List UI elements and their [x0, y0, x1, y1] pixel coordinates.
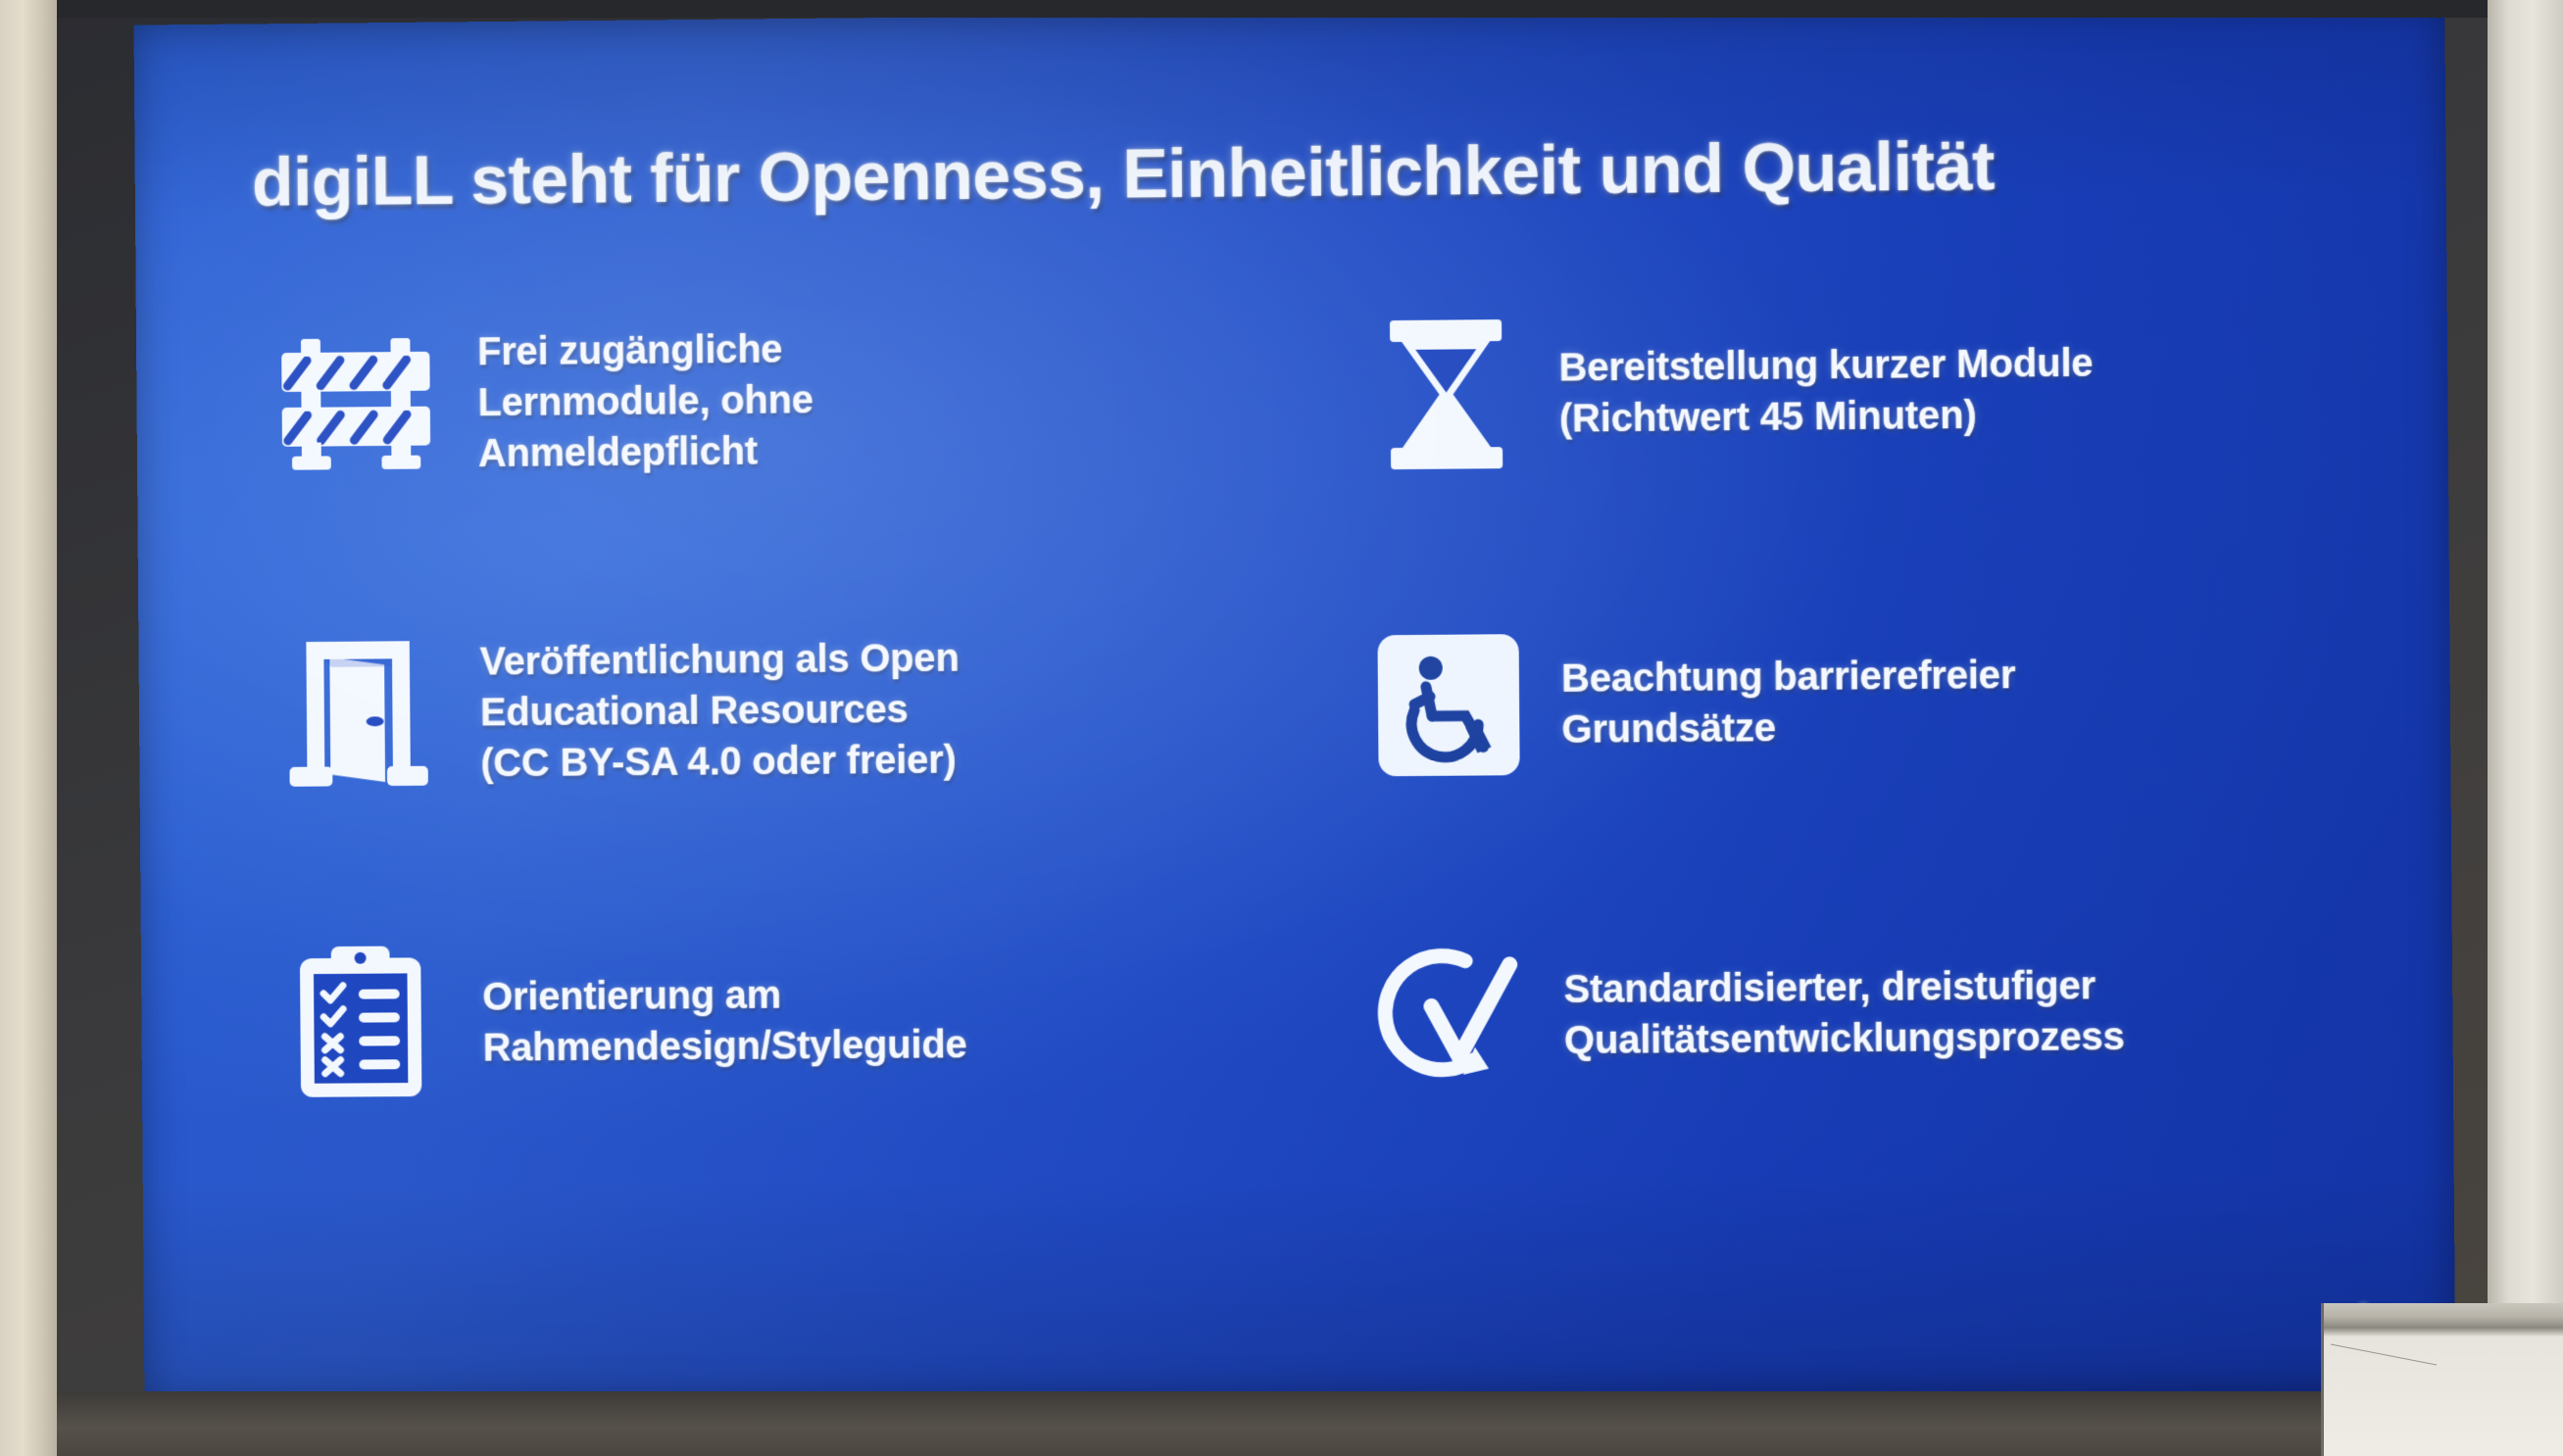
feature-line: Bereitstellung kurzer Module [1558, 338, 2093, 394]
feature-line: Beachtung barrierefreier [1561, 650, 2016, 704]
feature-item-accessibility: Beachtung barrierefreier Grundsätze [1335, 542, 2375, 860]
bezel-bottom-shadow [57, 1391, 2488, 1456]
clipboard-checklist-icon [238, 942, 483, 1104]
wall-edge-right [2488, 0, 2563, 1456]
feature-line: Frei zugängliche [477, 324, 813, 378]
feature-line: (Richtwert 45 Minuten) [1559, 389, 2094, 445]
feature-item-styleguide: Orientierung am Rahmendesign/Styleguide [238, 862, 1271, 1179]
wheelchair-accessibility-icon [1335, 631, 1561, 780]
feature-line: Anmeldepflicht [478, 426, 814, 480]
slide-title: digiLL steht für Openness, Einheitlichke… [252, 123, 2310, 221]
bezel-top-shadow [57, 0, 2488, 18]
feature-text: Beachtung barrierefreier Grundsätze [1561, 650, 2016, 755]
feature-text: Bereitstellung kurzer Module (Richtwert … [1558, 338, 2094, 445]
feature-item-open-access: Frei zugängliche Lernmodule, ohne Anmeld… [233, 241, 1266, 559]
feature-line: Grundsätze [1561, 701, 2016, 755]
projected-slide-photo: digiLL steht für Openness, Einheitlichke… [0, 0, 2563, 1456]
feature-line: Orientierung am [482, 968, 966, 1022]
open-door-icon [236, 635, 481, 794]
slide-feature-grid: Frei zugängliche Lernmodule, ohne Anmeld… [233, 231, 2377, 1179]
barrier-icon [233, 330, 478, 479]
feature-item-module-length: Bereitstellung kurzer Module (Richtwert … [1332, 231, 2372, 551]
feature-line: Educational Resources [480, 684, 960, 739]
feature-text: Veröffentlichung als Open Educational Re… [479, 633, 960, 790]
feature-line: Qualitätsentwicklungsprozess [1564, 1011, 2125, 1066]
feature-text: Standardisierter, dreistufiger Qualitäts… [1563, 960, 2125, 1066]
hourglass-icon [1333, 315, 1559, 474]
foreground-whiteboard [2321, 1303, 2563, 1456]
slide-surface: digiLL steht für Openness, Einheitlichke… [133, 2, 2455, 1403]
feature-text: Orientierung am Rahmendesign/Styleguide [482, 968, 967, 1073]
wall-edge-left [0, 0, 57, 1456]
feature-line: Standardisierter, dreistufiger [1563, 960, 2124, 1015]
feature-line: Lernmodule, ohne [477, 375, 813, 429]
feature-line: (CC BY-SA 4.0 oder freier) [480, 735, 960, 790]
feature-item-quality-process: Standardisierter, dreistufiger Qualitäts… [1337, 853, 2377, 1172]
feature-text: Frei zugängliche Lernmodule, ohne Anmeld… [477, 324, 813, 480]
cycle-check-icon [1338, 937, 1564, 1095]
feature-line: Rahmendesign/Styleguide [482, 1019, 966, 1073]
feature-line: Veröffentlichung als Open [479, 633, 959, 688]
feature-item-oer-licence: Veröffentlichung als Open Educational Re… [235, 552, 1268, 869]
